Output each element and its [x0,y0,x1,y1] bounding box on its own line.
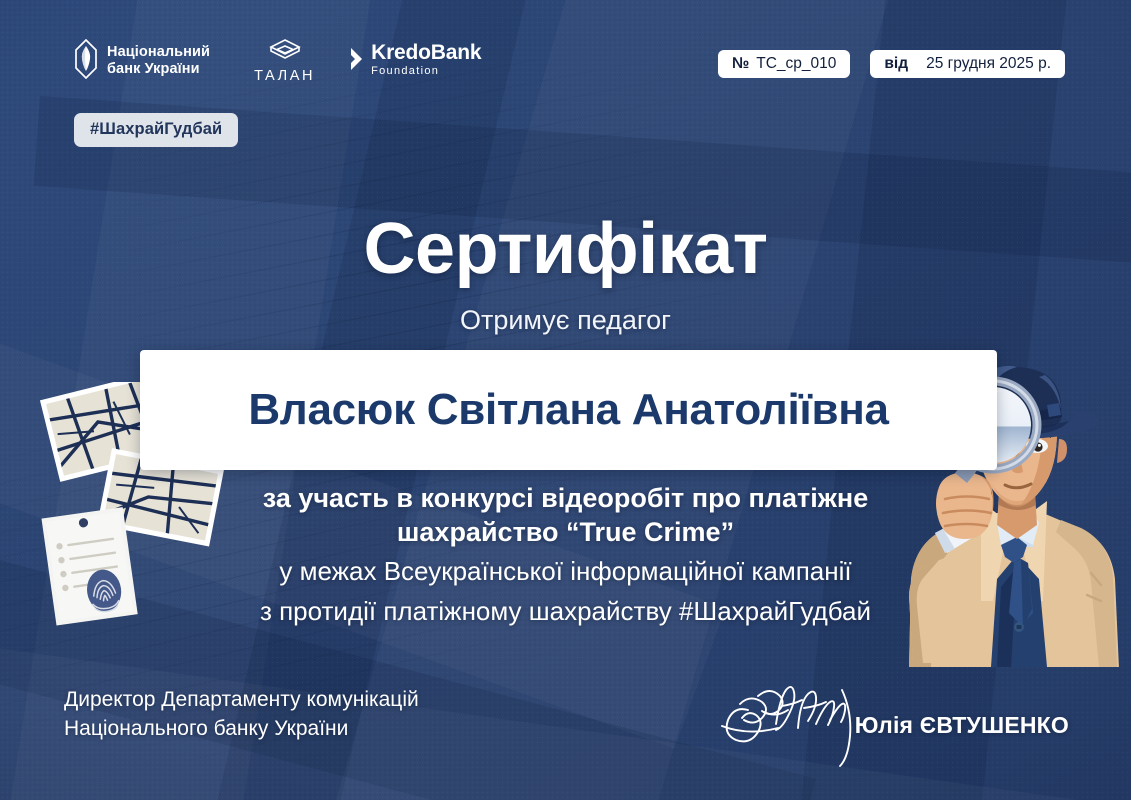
logo-kredobank-foundation: KredoBank Foundation [349,42,481,81]
body-line-regular-1: у межах Всеукраїнської інформаційної кам… [0,554,1131,589]
body-line-bold-2: шахрайство “True Crime” [0,515,1131,549]
recipient-name: Власюк Світлана Анатоліївна [222,385,914,435]
recipient-name-card: Власюк Світлана Анатоліївна [140,350,997,470]
body-line-regular-2: з протидії платіжному шахрайству #Шахрай… [0,594,1131,629]
signatory-name: Юлія ЄВТУШЕНКО [855,712,1069,739]
body-line-bold-1: за участь в конкурсі відеоробіт про плат… [0,481,1131,515]
nbu-trident-icon [74,39,98,84]
document-date-value: 25 грудня 2025 р. [926,55,1051,73]
document-date-field[interactable]: від 25 грудня 2025 р. [870,50,1065,78]
certificate-subtitle: Отримує педагог [0,305,1131,336]
certificate-page: Національний банк України ТАЛАН KredoBan… [0,0,1131,800]
partner-logos: Національний банк України ТАЛАН KredoBan… [74,38,481,84]
campaign-hashtag-badge: #ШахрайГудбай [74,113,238,147]
talan-diamond-icon [269,38,301,65]
kredobank-logo-text: KredoBank [371,42,481,63]
certificate-title: Сертифікат [0,208,1131,290]
document-number-value: TC_ср_010 [756,55,836,73]
signatory-role: Директор Департаменту комунікацій Націон… [64,686,419,744]
nbu-logo-text: Національний банк України [107,44,210,78]
document-number-field[interactable]: № TC_ср_010 [718,50,850,78]
kredobank-logo-tagline: Foundation [371,63,439,81]
document-number-label: № [732,55,749,73]
certificate-body-text: за участь в конкурсі відеоробіт про плат… [0,481,1131,628]
logo-talan: ТАЛАН [254,38,315,84]
handwritten-signature [718,676,868,773]
logo-national-bank-ukraine: Національний банк України [74,39,210,84]
kredobank-chevron-icon [349,46,364,77]
document-date-label: від [884,55,908,73]
talan-logo-text: ТАЛАН [254,68,315,84]
document-reference-fields: № TC_ср_010 від 25 грудня 2025 р. [718,50,1065,78]
